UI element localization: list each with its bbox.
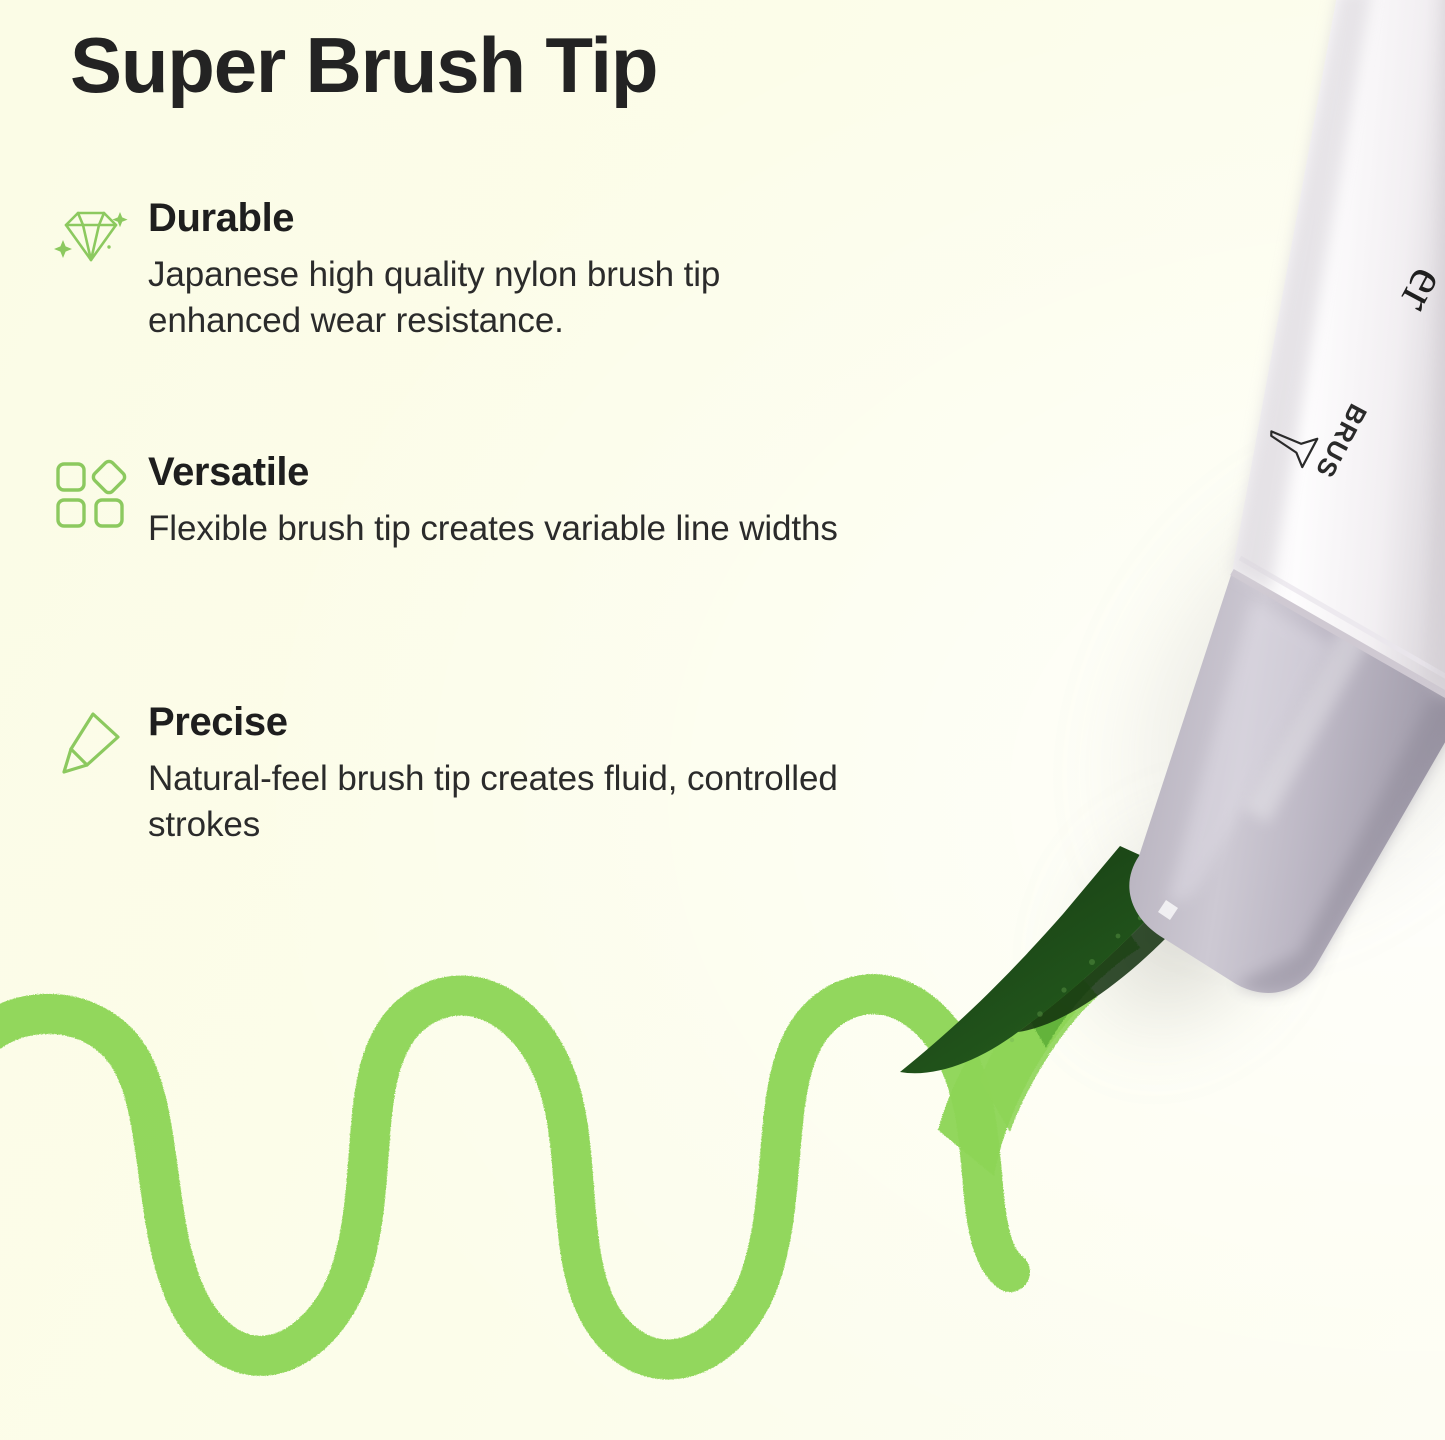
- pen-shadow: [980, 324, 1445, 1122]
- pen-barrel: BRUS er: [1232, 0, 1445, 706]
- barrel-text-brush: BRUS: [1309, 399, 1373, 483]
- page-title: Super Brush Tip: [70, 22, 657, 109]
- pen-nib-icon: [52, 706, 130, 784]
- wavy-ink-stroke: [0, 912, 1140, 1360]
- barrel-print-secondary: er: [1388, 259, 1445, 321]
- pen-ferrule: [1129, 572, 1445, 993]
- barrel-print: BRUS: [1309, 399, 1373, 483]
- brush-tip-pictogram: [1263, 418, 1317, 467]
- feature-description: Flexible brush tip creates variable line…: [148, 506, 842, 552]
- feature-description: Natural-feel brush tip creates fluid, co…: [148, 756, 842, 848]
- feature-description: Japanese high quality nylon brush tip en…: [148, 252, 842, 344]
- feature-item-precise: Precise Natural-feel brush tip creates f…: [52, 702, 842, 848]
- feature-text-precise: Precise Natural-feel brush tip creates f…: [148, 702, 842, 848]
- feature-item-versatile: Versatile Flexible brush tip creates var…: [52, 452, 842, 552]
- shapes-grid-icon: [52, 456, 130, 534]
- feature-title: Versatile: [148, 452, 842, 492]
- infographic-canvas: Super Brush Tip Durable Japanese high q: [0, 0, 1445, 1440]
- feature-title: Durable: [148, 198, 842, 238]
- feature-text-durable: Durable Japanese high quality nylon brus…: [148, 198, 842, 344]
- barrel-text-marker: er: [1388, 259, 1445, 321]
- feature-title: Precise: [148, 702, 842, 742]
- feature-text-versatile: Versatile Flexible brush tip creates var…: [148, 452, 842, 552]
- diamond-gem-icon: [52, 202, 130, 280]
- feature-item-durable: Durable Japanese high quality nylon brus…: [52, 198, 842, 344]
- brush-tip: [900, 830, 1248, 1073]
